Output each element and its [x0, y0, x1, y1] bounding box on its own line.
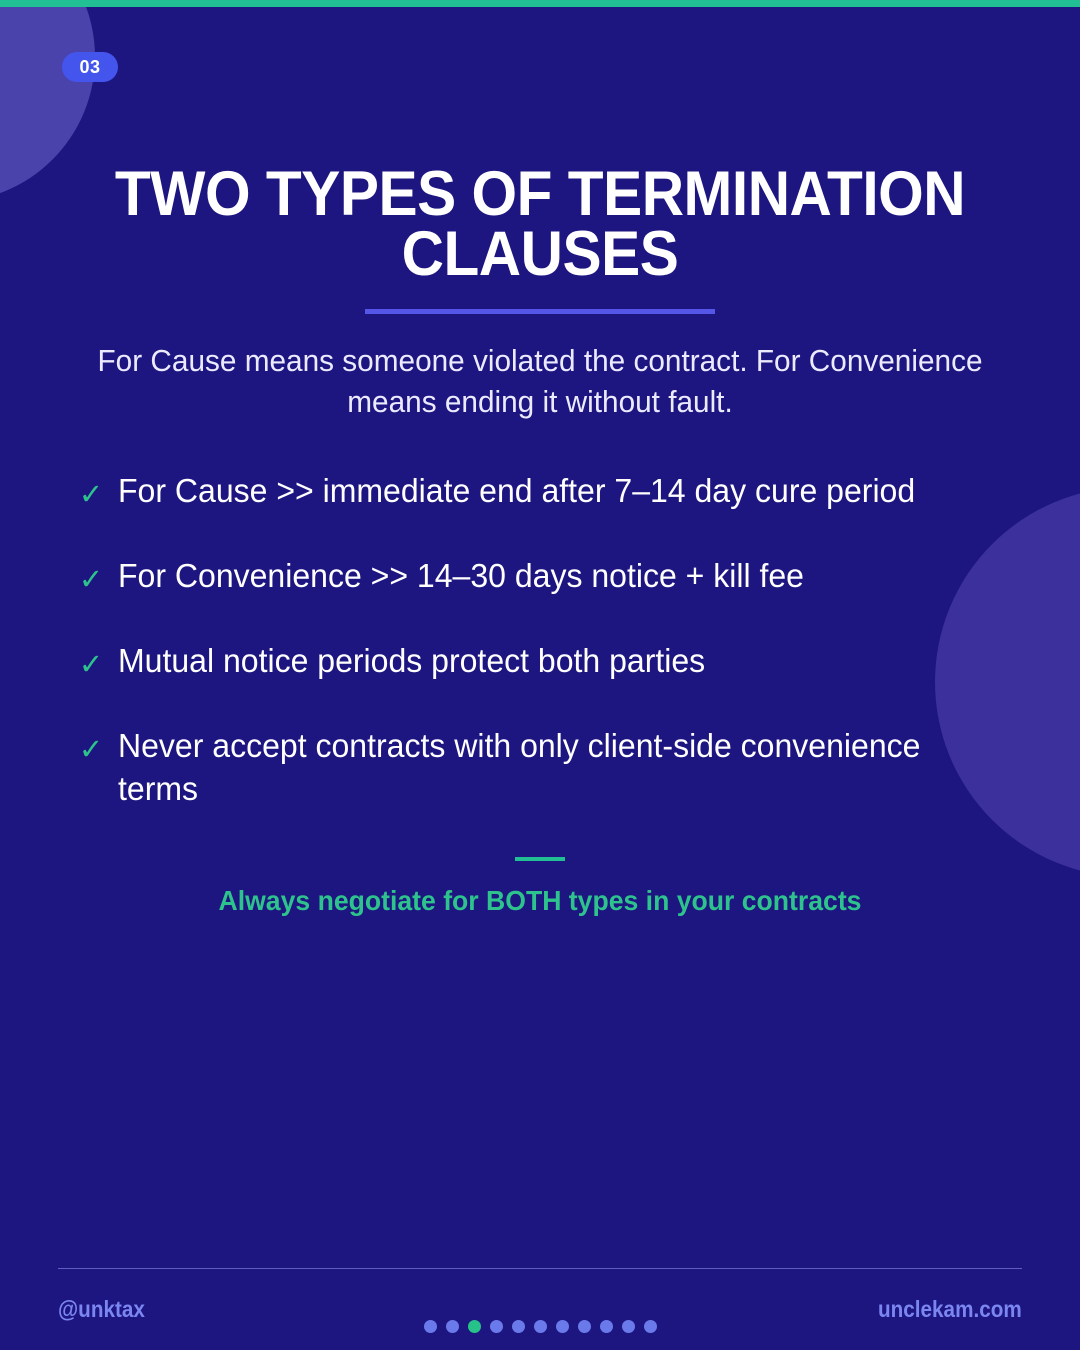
check-icon: ✓	[78, 566, 104, 595]
title-divider	[365, 309, 715, 314]
list-item-label: For Convenience >> 14–30 days notice + k…	[118, 555, 804, 598]
progress-dot	[490, 1320, 503, 1333]
list-item: ✓ For Convenience >> 14–30 days notice +…	[78, 555, 1002, 598]
social-handle: @unktax	[58, 1296, 145, 1323]
slide-number-badge: 03	[62, 52, 118, 82]
progress-dot	[622, 1320, 635, 1333]
slide-content: TWO TYPES OF TERMINATION CLAUSES For Cau…	[0, 165, 1080, 917]
progress-dot	[556, 1320, 569, 1333]
page-subtitle: For Cause means someone violated the con…	[96, 340, 983, 422]
progress-dot	[644, 1320, 657, 1333]
footer-divider	[58, 1268, 1022, 1269]
progress-dot-active	[468, 1320, 481, 1333]
list-item-label: For Cause >> immediate end after 7–14 da…	[118, 470, 915, 513]
list-item: ✓ For Cause >> immediate end after 7–14 …	[78, 470, 1002, 513]
page-title: TWO TYPES OF TERMINATION CLAUSES	[110, 165, 969, 285]
list-item-label: Never accept contracts with only client-…	[118, 725, 923, 811]
bullet-list: ✓ For Cause >> immediate end after 7–14 …	[78, 470, 1002, 810]
progress-dot	[446, 1320, 459, 1333]
slide-canvas: 03 TWO TYPES OF TERMINATION CLAUSES For …	[0, 0, 1080, 1350]
progress-dot	[578, 1320, 591, 1333]
callout-text: Always negotiate for BOTH types in your …	[101, 885, 979, 917]
check-icon: ✓	[78, 651, 104, 680]
website-url: unclekam.com	[878, 1296, 1022, 1323]
callout-divider	[515, 857, 565, 861]
check-icon: ✓	[78, 736, 104, 765]
list-item: ✓ Mutual notice periods protect both par…	[78, 640, 1002, 683]
progress-dot	[534, 1320, 547, 1333]
list-item: ✓ Never accept contracts with only clien…	[78, 725, 1002, 811]
footer: @unktax unclekam.com	[0, 1268, 1080, 1350]
progress-dot	[424, 1320, 437, 1333]
progress-dot	[512, 1320, 525, 1333]
slide-progress-dots	[0, 1320, 1080, 1333]
list-item-label: Mutual notice periods protect both parti…	[118, 640, 705, 683]
top-accent-bar	[0, 0, 1080, 7]
check-icon: ✓	[78, 481, 104, 510]
progress-dot	[600, 1320, 613, 1333]
